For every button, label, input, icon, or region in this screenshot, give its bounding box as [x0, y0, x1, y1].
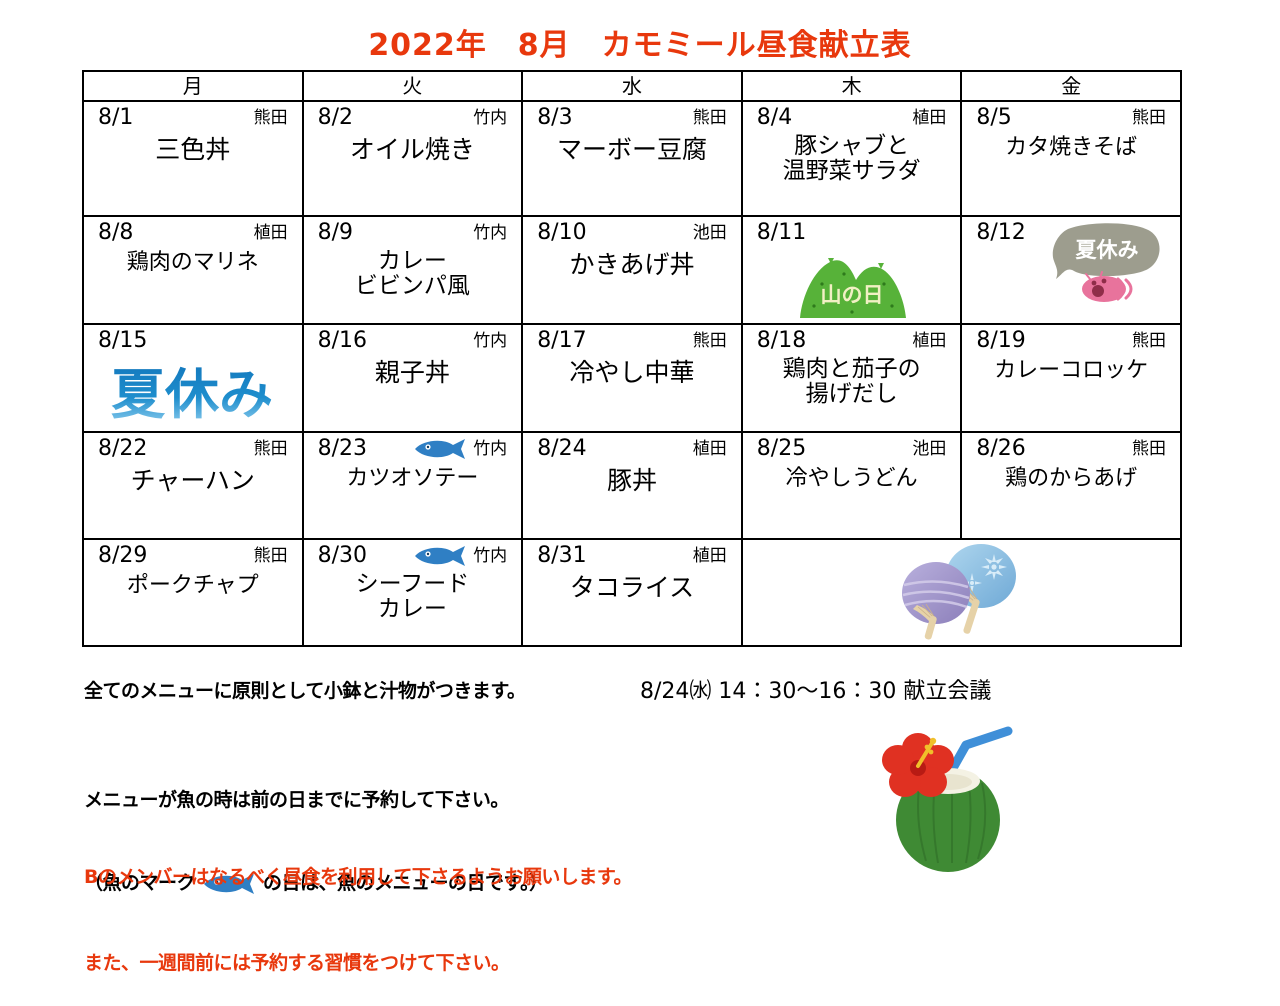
- day-cell-08-23[interactable]: 8/23 竹内 カツオソテー: [303, 432, 523, 539]
- cell-staff: 熊田: [1132, 104, 1166, 132]
- cell-staff: 池田: [693, 219, 727, 247]
- cell-date: 8/30: [318, 542, 367, 570]
- cell-staff: 熊田: [693, 104, 727, 132]
- cell-header: 8/23 竹内: [304, 433, 522, 463]
- cell-staff: 竹内: [473, 435, 507, 463]
- day-cell-08-10[interactable]: 8/10 池田 かきあげ丼: [522, 216, 742, 324]
- day-cell-08-30[interactable]: 8/30 竹内 シーフード カレー: [303, 539, 523, 646]
- day-cell-08-26[interactable]: 8/26 熊田 鶏のからあげ: [961, 432, 1181, 539]
- cell-header: 8/16 竹内: [304, 325, 522, 355]
- cell-header: 8/9 竹内: [304, 217, 522, 247]
- cell-header: 8/5 熊田: [962, 102, 1180, 132]
- cell-staff: 植田: [912, 327, 946, 355]
- cell-date: 8/22: [98, 435, 147, 463]
- cell-menu: カレー ビビンパ風: [304, 247, 522, 300]
- cell-staff: 植田: [254, 219, 288, 247]
- cell-menu: カタ焼きそば: [962, 132, 1180, 161]
- cell-staff: 熊田: [254, 435, 288, 463]
- cell-staff: 池田: [912, 435, 946, 463]
- day-cell-08-24[interactable]: 8/24 植田 豚丼: [522, 432, 742, 539]
- calendar-week-row: 8/29 熊田 ポークチャプ 8/30 竹内: [83, 539, 1181, 646]
- cell-menu: 鶏のからあげ: [962, 463, 1180, 492]
- cell-date: 8/25: [757, 435, 806, 463]
- day-cell-08-12[interactable]: 8/12 夏休み: [961, 216, 1181, 324]
- weekday-header-fri: 金: [961, 71, 1181, 101]
- cell-menu: 冷やしうどん: [743, 463, 961, 492]
- cell-staff: 竹内: [473, 542, 507, 570]
- fish-icon: [413, 545, 467, 571]
- calendar-week-row: 8/15 夏休み: [83, 324, 1181, 432]
- mountain-day-graphic: 山の日: [743, 247, 961, 323]
- day-cell-08-31[interactable]: 8/31 植田 タコライス: [522, 539, 742, 646]
- cell-staff: 熊田: [254, 542, 288, 570]
- cell-header: 8/31 植田: [523, 540, 741, 570]
- cell-menu: シーフード カレー: [304, 570, 522, 623]
- note-side-dishes: 全てのメニューに原則として小鉢と汁物がつきます。: [84, 676, 526, 703]
- cell-date: 8/15: [98, 327, 147, 355]
- fish-icon: [413, 438, 467, 464]
- cell-header: 8/24 植田: [523, 433, 741, 463]
- weekday-header-tue: 火: [303, 71, 523, 101]
- day-cell-08-29[interactable]: 8/29 熊田 ポークチャプ: [83, 539, 303, 646]
- svg-text:山の日: 山の日: [820, 283, 883, 307]
- day-cell-08-03[interactable]: 8/3 熊田 マーボー豆腐: [522, 101, 742, 216]
- day-cell-08-08[interactable]: 8/8 植田 鶏肉のマリネ: [83, 216, 303, 324]
- cell-date: 8/8: [98, 219, 133, 247]
- cell-date: 8/4: [757, 104, 792, 132]
- cell-date: 8/1: [98, 104, 133, 132]
- cell-header: 8/29 熊田: [84, 540, 302, 570]
- calendar-week-row: 8/1 熊田 三色丼 8/2 竹内 オイル焼き 8/3 熊田 マーボー豆腐: [83, 101, 1181, 216]
- calendar-week-row: 8/22 熊田 チャーハン 8/23 竹内: [83, 432, 1181, 539]
- cell-header: 8/26 熊田: [962, 433, 1180, 463]
- weekday-header-wed: 水: [522, 71, 742, 101]
- cell-staff: 植田: [693, 542, 727, 570]
- cell-date: 8/26: [976, 435, 1025, 463]
- cell-staff: 熊田: [254, 104, 288, 132]
- cell-menu: タコライス: [523, 570, 741, 602]
- cell-header: 8/25 池田: [743, 433, 961, 463]
- cell-date: 8/16: [318, 327, 367, 355]
- cell-menu: 鶏肉のマリネ: [84, 247, 302, 276]
- cell-header: 8/8 植田: [84, 217, 302, 247]
- note-b-member-line1: Bのメンバーはなるべく昼食を利用して下さるようお願いします。: [84, 863, 632, 892]
- cell-menu: ポークチャプ: [84, 570, 302, 599]
- cell-date: 8/17: [537, 327, 586, 355]
- svg-text:夏休み: 夏休み: [1076, 238, 1139, 262]
- day-cell-08-18[interactable]: 8/18 植田 鶏肉と茄子の 揚げだし: [742, 324, 962, 432]
- cell-staff: 竹内: [473, 327, 507, 355]
- cell-date: 8/31: [537, 542, 586, 570]
- cell-staff: 熊田: [1132, 327, 1166, 355]
- cell-date: 8/18: [757, 327, 806, 355]
- day-cell-08-02[interactable]: 8/2 竹内 オイル焼き: [303, 101, 523, 216]
- cell-date: 8/2: [318, 104, 353, 132]
- cell-menu: チャーハン: [84, 463, 302, 495]
- cell-header: 8/22 熊田: [84, 433, 302, 463]
- cell-date: 8/24: [537, 435, 586, 463]
- cell-date: 8/19: [976, 327, 1025, 355]
- cell-menu: 親子丼: [304, 355, 522, 387]
- cell-header: 8/18 植田: [743, 325, 961, 355]
- cell-header: 8/4 植田: [743, 102, 961, 132]
- note-b-member-request: Bのメンバーはなるべく昼食を利用して下さるようお願いします。 また、一週間前には…: [84, 806, 632, 1006]
- day-cell-08-11[interactable]: 8/11 山の日: [742, 216, 962, 324]
- cell-menu: カレーコロッケ: [962, 355, 1180, 384]
- cell-menu: 鶏肉と茄子の 揚げだし: [743, 355, 961, 408]
- cell-header: 8/30 竹内: [304, 540, 522, 570]
- cell-date: 8/23: [318, 435, 367, 463]
- cell-staff: 熊田: [1132, 435, 1166, 463]
- cell-staff: 植田: [912, 104, 946, 132]
- day-cell-08-22[interactable]: 8/22 熊田 チャーハン: [83, 432, 303, 539]
- day-cell-08-19[interactable]: 8/19 熊田 カレーコロッケ: [961, 324, 1181, 432]
- day-cell-08-04[interactable]: 8/4 植田 豚シャブと 温野菜サラダ: [742, 101, 962, 216]
- day-cell-08-16[interactable]: 8/16 竹内 親子丼: [303, 324, 523, 432]
- cell-menu: 三色丼: [84, 132, 302, 164]
- cell-date: 8/11: [757, 219, 806, 247]
- cell-staff: 植田: [693, 435, 727, 463]
- weekday-header-thu: 木: [742, 71, 962, 101]
- cell-menu: カツオソテー: [304, 463, 522, 492]
- summer-break-brush-graphic: 夏休み: [84, 355, 302, 431]
- cell-menu: かきあげ丼: [523, 247, 741, 279]
- day-cell-empty-decorative: [742, 539, 1181, 646]
- calendar-week-row: 8/8 植田 鶏肉のマリネ 8/9 竹内 カレー ビビンパ風 8/10 池田 か…: [83, 216, 1181, 324]
- day-cell-08-05[interactable]: 8/5 熊田 カタ焼きそば: [961, 101, 1181, 216]
- cell-menu: 冷やし中華: [523, 355, 741, 387]
- day-cell-08-09[interactable]: 8/9 竹内 カレー ビビンパ風: [303, 216, 523, 324]
- cell-date: 8/29: [98, 542, 147, 570]
- cell-header: 8/3 熊田: [523, 102, 741, 132]
- weekday-header-mon: 月: [83, 71, 303, 101]
- cell-staff: 竹内: [473, 219, 507, 247]
- note-menu-meeting: 8/24㈬ 14：30〜16：30 献立会議: [640, 673, 991, 705]
- cell-date: 8/12: [976, 219, 1025, 247]
- weekday-header-row: 月 火 水 木 金: [83, 71, 1181, 101]
- cell-date: 8/10: [537, 219, 586, 247]
- cell-date: 8/9: [318, 219, 353, 247]
- note-b-member-line2: また、一週間前には予約する習慣をつけて下さい。: [84, 949, 632, 978]
- page-title: 2022年 8月 カモミール昼食献立表: [0, 20, 1280, 64]
- menu-calendar-table: 月 火 水 木 金 8/1 熊田 三色丼 8/2 竹内 オイル焼き: [82, 70, 1182, 647]
- svg-text:夏休み: 夏休み: [111, 363, 273, 426]
- cell-staff: 竹内: [473, 104, 507, 132]
- cell-header: 8/1 熊田: [84, 102, 302, 132]
- day-cell-08-25[interactable]: 8/25 池田 冷やしうどん: [742, 432, 962, 539]
- coconut-drink-icon: [880, 725, 1030, 894]
- cell-date: 8/5: [976, 104, 1011, 132]
- cell-menu: 豚シャブと 温野菜サラダ: [743, 132, 961, 185]
- day-cell-08-01[interactable]: 8/1 熊田 三色丼: [83, 101, 303, 216]
- cell-date: 8/3: [537, 104, 572, 132]
- cell-menu: 豚丼: [523, 463, 741, 495]
- cell-header: 8/19 熊田: [962, 325, 1180, 355]
- cell-header: 8/10 池田: [523, 217, 741, 247]
- cell-header: 8/2 竹内: [304, 102, 522, 132]
- day-cell-08-15[interactable]: 8/15 夏休み: [83, 324, 303, 432]
- cell-header: 8/15: [84, 325, 302, 355]
- cell-staff: 熊田: [693, 327, 727, 355]
- cell-menu: マーボー豆腐: [523, 132, 741, 164]
- uchiwa-fans-icon: [876, 541, 1046, 645]
- day-cell-08-17[interactable]: 8/17 熊田 冷やし中華: [522, 324, 742, 432]
- cell-header: 8/11: [743, 217, 961, 247]
- cell-menu: オイル焼き: [304, 132, 522, 164]
- cell-header: 8/17 熊田: [523, 325, 741, 355]
